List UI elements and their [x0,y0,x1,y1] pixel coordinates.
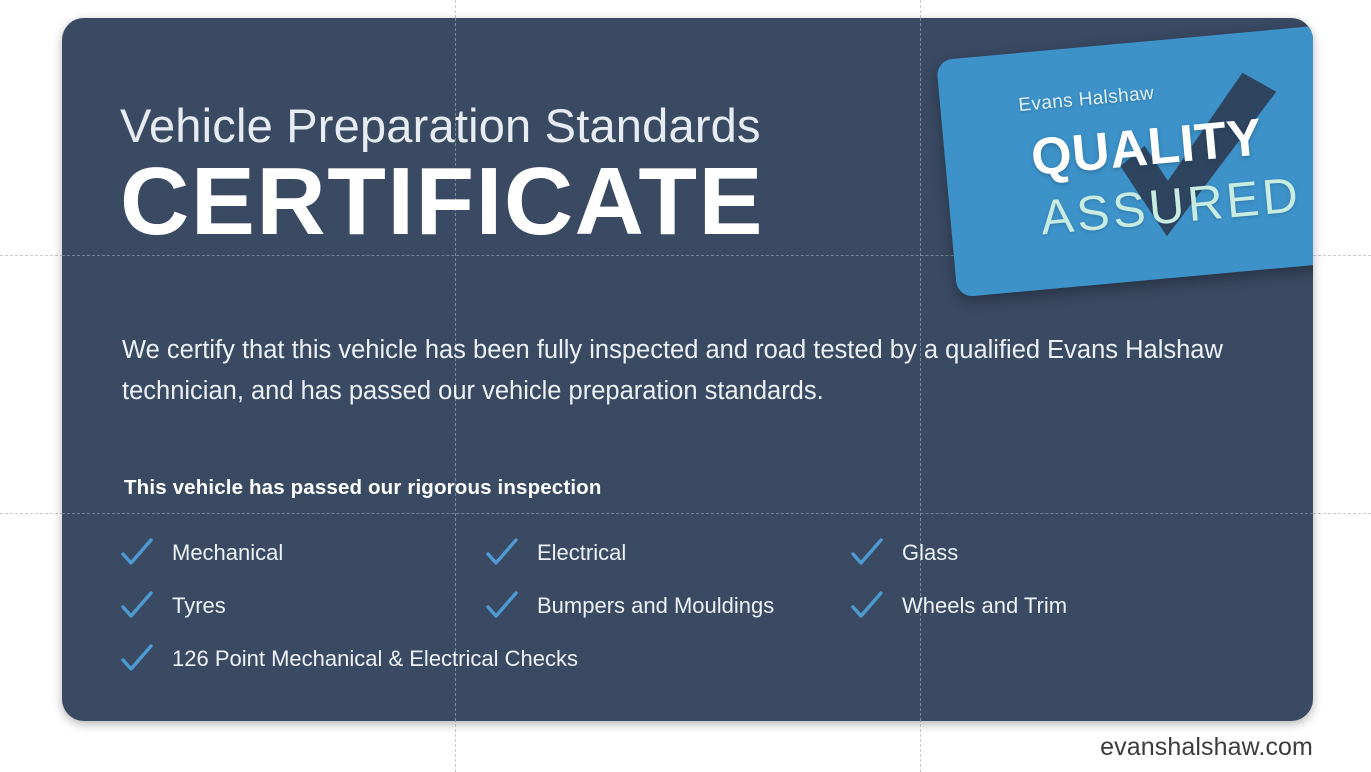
checklist-item: Bumpers and Mouldings [485,579,850,632]
quality-assured-badge: Evans Halshaw QUALITY ASSURED [936,25,1313,298]
check-icon [485,538,519,568]
title-subline: Vehicle Preparation Standards [120,102,764,151]
checklist-item-label: Glass [902,540,958,566]
badge-brand-name: Evans Halshaw [1018,83,1156,117]
checklist-item: Mechanical [120,526,485,579]
check-icon [850,538,884,568]
checklist-heading: This vehicle has passed our rigorous ins… [124,476,602,500]
check-icon [120,644,154,674]
checklist-item-label: Electrical [537,540,626,566]
checklist-item: Tyres [120,579,485,632]
checklist-item: Glass [850,526,1215,579]
checklist-item: Wheels and Trim [850,579,1215,632]
title-main: CERTIFICATE [120,153,764,251]
card-guide-horizontal-bottom [62,513,1313,514]
certification-statement: We certify that this vehicle has been fu… [122,330,1272,413]
checklist-item-label: Tyres [172,593,226,619]
checklist-item: 126 Point Mechanical & Electrical Checks [120,632,850,685]
checklist-item: Electrical [485,526,850,579]
footer-website-url[interactable]: evanshalshaw.com [1100,733,1313,762]
check-icon [120,591,154,621]
check-icon [850,591,884,621]
certificate-page: Vehicle Preparation Standards CERTIFICAT… [0,0,1371,772]
certificate-card: Vehicle Preparation Standards CERTIFICAT… [62,18,1313,721]
checklist-item-label: Wheels and Trim [902,593,1067,619]
check-icon [485,591,519,621]
checklist-item-label: Mechanical [172,540,283,566]
checklist-item-label: 126 Point Mechanical & Electrical Checks [172,646,578,672]
check-icon [120,538,154,568]
inspection-checklist: MechanicalElectricalGlassTyresBumpers an… [120,526,1270,685]
page-title: Vehicle Preparation Standards CERTIFICAT… [120,102,764,251]
checklist-item-label: Bumpers and Mouldings [537,593,774,619]
